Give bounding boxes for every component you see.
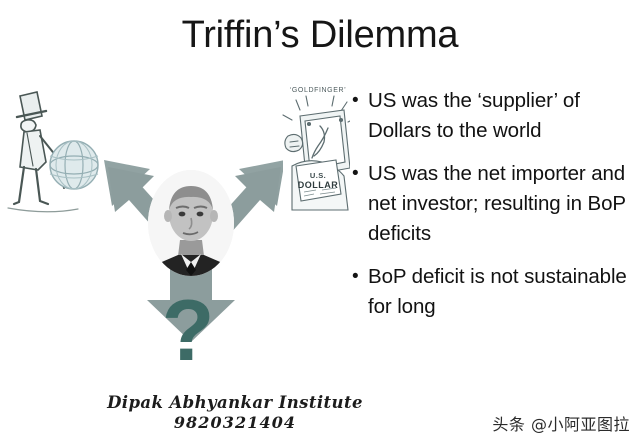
cartoon-dollar-label-line1: U.S. <box>310 171 326 180</box>
bullet-marker-icon: • <box>348 159 368 189</box>
watermark: 头条 @小阿亚图拉 <box>492 415 630 435</box>
bullet-text: US was the net importer and net investor… <box>368 159 640 249</box>
avatar <box>148 170 234 276</box>
list-item: • US was the ‘supplier’ of Dollars to th… <box>348 86 640 146</box>
footer-institute-name: Dipak Abhyankar Institute <box>0 392 470 413</box>
footer: Dipak Abhyankar Institute 9820321404 <box>0 392 470 433</box>
footer-phone-number: 9820321404 <box>0 413 470 433</box>
bullet-marker-icon: • <box>348 86 368 116</box>
slide-canvas: Triffin’s Dilemma <box>0 0 640 446</box>
bullet-text: BoP deficit is not sustainable for long <box>368 262 640 322</box>
bullet-marker-icon: • <box>348 262 368 292</box>
cartoon-caption: ‘GOLDFINGER’ <box>290 87 347 94</box>
bullet-text: US was the ‘supplier’ of Dollars to the … <box>368 86 640 146</box>
page-title: Triffin’s Dilemma <box>0 12 640 58</box>
list-item: • US was the net importer and net invest… <box>348 159 640 249</box>
list-item: • BoP deficit is not sustainable for lon… <box>348 262 640 322</box>
diagram-graphic-area: ? <box>0 70 350 390</box>
robert-triffin-portrait-image <box>148 170 234 276</box>
bullet-list: • US was the ‘supplier’ of Dollars to th… <box>348 86 640 335</box>
